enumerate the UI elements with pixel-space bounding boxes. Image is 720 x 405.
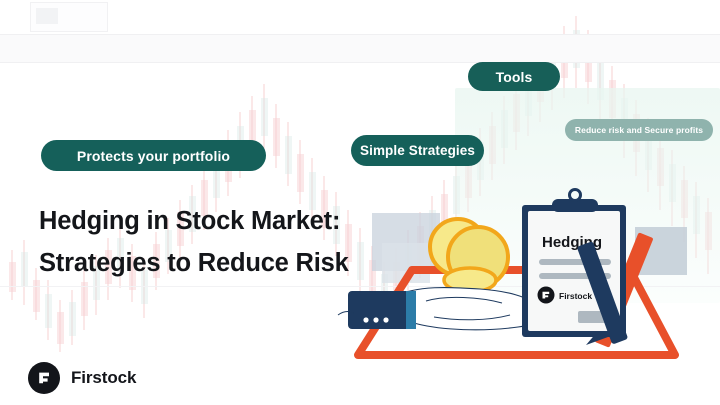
- background-panel-swatch: [36, 8, 58, 24]
- badge-simple-strategies: Simple Strategies: [351, 135, 484, 166]
- badge-tools-label: Tools: [496, 69, 533, 85]
- badge-reduce-risk-secure-profits: Reduce risk and Secure profits: [565, 119, 713, 141]
- clipboard-badge-label: Firstock: [559, 291, 592, 301]
- gold-coins: [430, 219, 508, 292]
- badge-simple-label: Simple Strategies: [360, 143, 475, 158]
- badge-portfolio-label: Protects your portfolio: [77, 148, 230, 164]
- badge-tools: Tools: [468, 62, 560, 91]
- brand-logo-label: Firstock: [71, 368, 136, 388]
- firstock-arrow-icon: [28, 362, 60, 394]
- brand-logo[interactable]: Firstock: [28, 362, 136, 394]
- background-band: [0, 34, 720, 62]
- badge-protects-your-portfolio: Protects your portfolio: [41, 140, 266, 171]
- background-gridline-top: [0, 34, 720, 35]
- hero-banner: Tools Protects your portfolio Simple Str…: [0, 0, 720, 405]
- badge-reduce-label: Reduce risk and Secure profits: [575, 125, 703, 135]
- background-gridline-second: [0, 62, 720, 63]
- hero-illustration: Hedging Firstock: [330, 185, 720, 385]
- navy-sleeve: [348, 291, 416, 329]
